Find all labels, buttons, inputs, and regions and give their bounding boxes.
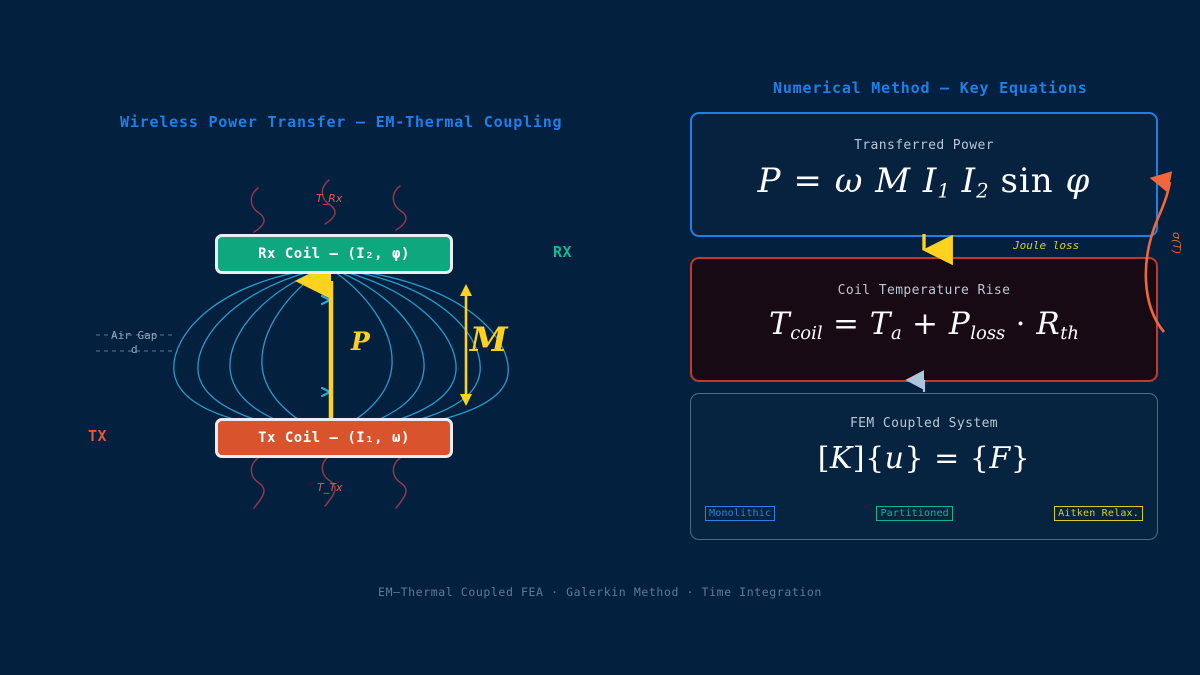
air-gap-distance-label: d (131, 343, 138, 356)
rx-coil-box[interactable]: Rx Coil — (I₂, φ) (215, 234, 453, 274)
footer-note: EM–Thermal Coupled FEA · Galerkin Method… (0, 585, 1200, 599)
sigma-temperature-label: σ(T) (1170, 232, 1183, 254)
wpt-field-diagram (0, 0, 620, 675)
joule-loss-label: Joule loss (1013, 239, 1079, 252)
tx-coil-box[interactable]: Tx Coil — (I₁, ω) (215, 418, 453, 458)
coupling-connectors (690, 100, 1200, 560)
mutual-inductance-symbol-label: M (470, 320, 508, 360)
power-symbol-label: P (351, 327, 370, 356)
air-gap-label: Air Gap (111, 329, 157, 342)
diagram-canvas: Wireless Power Transfer — EM-Thermal Cou… (0, 0, 1200, 675)
tx-side-tag: TX (88, 427, 107, 445)
heat-waves-rx (251, 180, 406, 232)
sigma-feedback-arrow (1146, 182, 1170, 332)
heat-label-rx: T_Rx (316, 192, 342, 205)
rx-side-tag: RX (553, 243, 572, 261)
heat-label-tx: T_Tx (317, 481, 342, 494)
tx-coil-label: Tx Coil — (I₁, ω) (258, 430, 410, 446)
right-panel-title: Numerical Method — Key Equations (773, 79, 1088, 97)
rx-coil-label: Rx Coil — (I₂, φ) (258, 246, 410, 262)
magnetic-field-lines (174, 268, 508, 435)
